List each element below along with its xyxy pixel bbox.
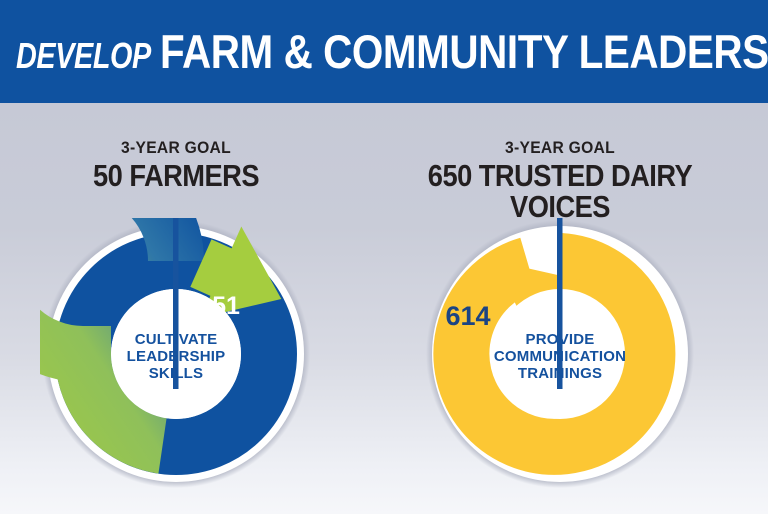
- header-bar: DEVELOP FARM & COMMUNITY LEADERS: [0, 0, 768, 103]
- gauge-center-text: CULTIVATE LEADERSHIP SKILLS: [101, 330, 251, 382]
- center-line-2: COMMUNICATION: [485, 348, 635, 365]
- center-line-3: TRAININGS: [485, 365, 635, 382]
- donut-gauge-farmers: 51 CULTIVATE LEADERSHIP SKILLS: [40, 218, 312, 495]
- center-line-1: PROVIDE: [485, 330, 635, 347]
- donut-gauge-dairy-voices: 614 PROVIDE COMMUNICATION TRAININGS: [424, 218, 696, 495]
- goal-label: 3-YEAR GOAL: [369, 139, 752, 156]
- goal-value: 50 FARMERS: [21, 160, 331, 191]
- page-title: FARM & COMMUNITY LEADERS: [160, 24, 768, 79]
- gauge-value-label: 614: [445, 301, 490, 331]
- center-line-3: SKILLS: [101, 365, 251, 382]
- gauge-panel-dairy-voices: 3-YEAR GOAL 650 TRUSTED DAIRY VOICES: [352, 103, 768, 514]
- gauge-value-label: 51: [212, 292, 240, 320]
- header-develop-word: DEVELOP: [16, 35, 151, 77]
- goal-label: 3-YEAR GOAL: [14, 139, 338, 156]
- goal-value: 650 TRUSTED DAIRY VOICES: [377, 160, 743, 222]
- goal-heading-farmers: 3-YEAR GOAL 50 FARMERS: [0, 139, 352, 191]
- center-line-1: CULTIVATE: [101, 330, 251, 347]
- content-stage: 3-YEAR GOAL 50 FARMERS: [0, 103, 768, 514]
- center-line-2: LEADERSHIP: [101, 348, 251, 365]
- gauge-panel-farmers: 3-YEAR GOAL 50 FARMERS: [0, 103, 352, 514]
- infographic-root: DEVELOP FARM & COMMUNITY LEADERS 3-YEAR …: [0, 0, 768, 514]
- goal-heading-dairy-voices: 3-YEAR GOAL 650 TRUSTED DAIRY VOICES: [352, 139, 768, 222]
- gauge-center-text: PROVIDE COMMUNICATION TRAININGS: [485, 330, 635, 382]
- header-title-group: DEVELOP FARM & COMMUNITY LEADERS: [0, 24, 768, 79]
